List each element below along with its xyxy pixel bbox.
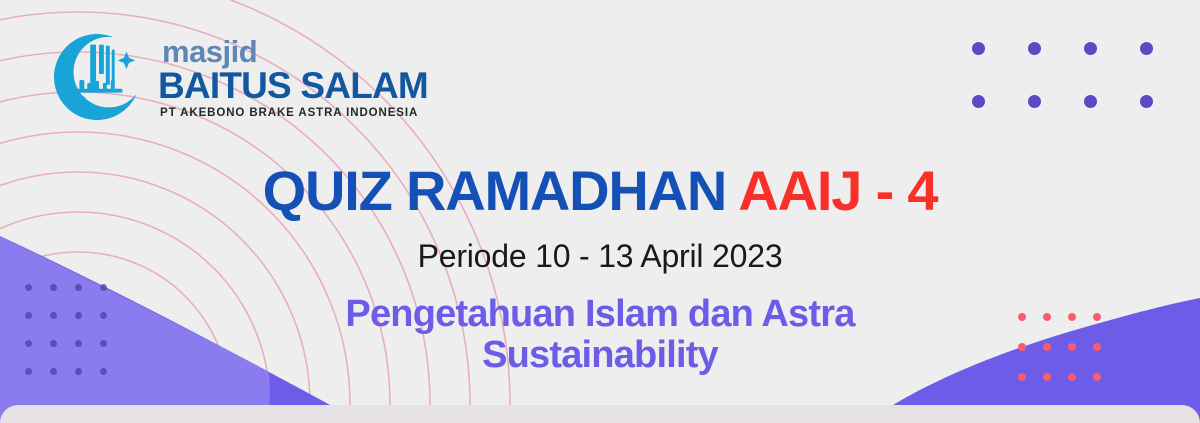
dot xyxy=(1028,42,1041,55)
dot xyxy=(1084,95,1097,108)
logo-line-masjid: masjid xyxy=(162,37,428,66)
dot xyxy=(1028,95,1041,108)
logo-wordmark: masjid BAITUS SALAM PT AKEBONO BRAKE AST… xyxy=(158,35,428,118)
crescent-mosque-icon xyxy=(50,28,148,126)
dot-grid-top-right xyxy=(972,42,1196,148)
dot xyxy=(972,42,985,55)
bottom-panel xyxy=(0,405,1200,423)
promo-banner: masjid BAITUS SALAM PT AKEBONO BRAKE AST… xyxy=(0,0,1200,423)
theme-text: Pengetahuan Islam dan Astra Sustainabili… xyxy=(0,294,1200,375)
theme-line-1: Pengetahuan Islam dan Astra xyxy=(0,294,1200,335)
dot xyxy=(1084,42,1097,55)
period-text: Periode 10 - 13 April 2023 xyxy=(0,240,1200,272)
dot xyxy=(972,95,985,108)
logo-line-company: PT AKEBONO BRAKE ASTRA INDONESIA xyxy=(160,107,428,119)
headline-block: QUIZ RAMADHAN AAIJ - 4 Periode 10 - 13 A… xyxy=(0,163,1200,375)
main-title-primary: QUIZ RAMADHAN xyxy=(263,159,726,222)
dot xyxy=(1140,42,1153,55)
main-title-accent: AAIJ - 4 xyxy=(738,159,937,222)
logo-line-baitus-salam: BAITUS SALAM xyxy=(158,67,428,105)
dot xyxy=(1140,95,1153,108)
masjid-baitus-salam-logo: masjid BAITUS SALAM PT AKEBONO BRAKE AST… xyxy=(50,28,428,126)
theme-line-2: Sustainability xyxy=(0,335,1200,376)
main-title: QUIZ RAMADHAN AAIJ - 4 xyxy=(0,163,1200,219)
